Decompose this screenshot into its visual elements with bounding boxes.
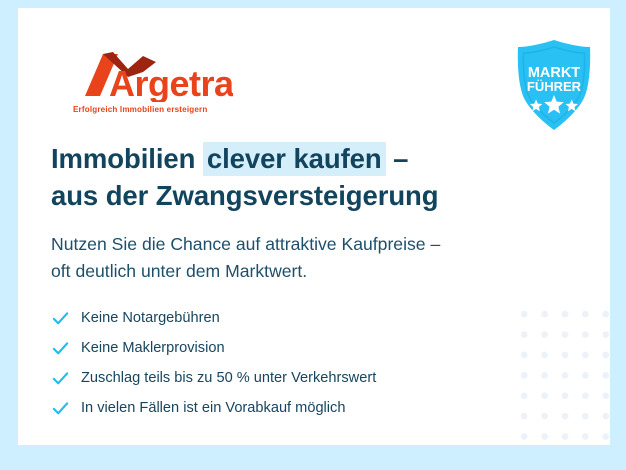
list-item: In vielen Fällen ist ein Vorabkauf mögli… — [51, 393, 521, 423]
headline-highlight: clever kaufen — [203, 142, 386, 176]
benefit-label: Zuschlag teils bis zu 50 % unter Verkehr… — [81, 371, 376, 386]
logo-tagline: Erfolgreich Immobilien ersteigern — [73, 105, 207, 114]
markt-fuehrer-badge: MARKT FÜHRER — [509, 38, 599, 134]
dot-grid-decoration — [510, 298, 610, 445]
page-headline: Immobilien clever kaufen – aus der Zwang… — [51, 140, 571, 214]
check-icon — [51, 339, 70, 358]
list-item: Zuschlag teils bis zu 50 % unter Verkehr… — [51, 363, 521, 393]
headline-line1-after: – — [386, 143, 409, 174]
benefit-label: Keine Maklerprovision — [81, 341, 225, 356]
badge-line2-text: FÜHRER — [527, 79, 582, 94]
svg-text:Argetra: Argetra — [109, 63, 233, 102]
benefit-label: Keine Notargebühren — [81, 311, 220, 326]
subheadline-line1: Nutzen Sie die Chance auf attraktive Kau… — [51, 234, 440, 254]
check-icon — [51, 399, 70, 418]
argetra-logo[interactable]: Argetra Erfolgreich Immobilien ersteiger… — [73, 52, 233, 114]
headline-line1-before: Immobilien — [51, 143, 203, 174]
promo-banner: Argetra Erfolgreich Immobilien ersteiger… — [0, 0, 626, 470]
benefits-list: Keine Notargebühren Keine Maklerprovisio… — [51, 303, 521, 423]
check-icon — [51, 309, 70, 328]
headline-line2: aus der Zwangsversteigerung — [51, 180, 438, 211]
shield-badge-icon: MARKT FÜHRER — [509, 38, 599, 134]
check-icon — [51, 369, 70, 388]
list-item: Keine Maklerprovision — [51, 333, 521, 363]
subheadline: Nutzen Sie die Chance auf attraktive Kau… — [51, 231, 551, 285]
list-item: Keine Notargebühren — [51, 303, 521, 333]
benefit-label: In vielen Fällen ist ein Vorabkauf mögli… — [81, 401, 345, 416]
argetra-logo-mark: Argetra — [73, 52, 233, 102]
subheadline-line2: oft deutlich unter dem Marktwert. — [51, 261, 307, 281]
banner-card: Argetra Erfolgreich Immobilien ersteiger… — [18, 8, 610, 445]
